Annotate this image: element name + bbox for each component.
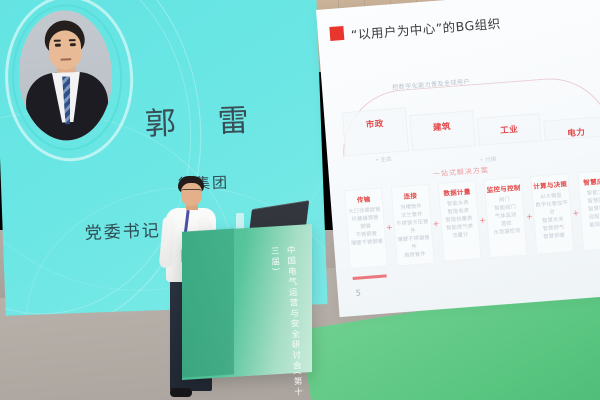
portrait-photo bbox=[17, 9, 115, 142]
solution-label: 一站式解决方案 bbox=[433, 165, 490, 179]
column-items: 智能水表智能电表智能热量表智能燃气表流量计 bbox=[441, 198, 478, 241]
portrait-eyebrow-right bbox=[69, 39, 76, 41]
column-header: 计算与决策 bbox=[533, 178, 568, 191]
water-bottle bbox=[236, 213, 244, 229]
category-label: 建筑 bbox=[432, 120, 451, 133]
portrait-eyebrow-left bbox=[54, 40, 61, 42]
capability-column: 监控与控制 阀门智能阀门气体监测温控水泄漏检测 bbox=[484, 177, 528, 259]
column-header: 传输 bbox=[346, 193, 381, 206]
capability-column: 智慧应用 智能工厂智慧园区智慧楼宇远程运维能效管理 bbox=[577, 170, 600, 252]
speaker-name: 郭 雷 bbox=[144, 94, 265, 143]
category-label: 工业 bbox=[500, 123, 519, 136]
portrait-face bbox=[48, 30, 81, 70]
capability-column: 计算与决策 AI大模型数字化管控平台智慧水务智慧燃气智慧供暖 bbox=[530, 173, 574, 255]
portrait-eye-left bbox=[55, 44, 61, 47]
column-items: AI大模型数字化管控平台智慧水务智慧燃气智慧供暖 bbox=[534, 191, 572, 242]
column-header: 智慧应用 bbox=[580, 175, 600, 188]
speaker-portrait bbox=[2, 0, 130, 158]
capability-columns: 传输 大口径螺旋管环螺缝钢管钢管不锈钢管薄壁不锈钢管 + 连接 沟槽管件法兰管件… bbox=[344, 170, 600, 271]
podium-side-panel bbox=[182, 228, 234, 377]
portrait-mouth bbox=[60, 58, 71, 60]
sub-note: • 分销 bbox=[480, 155, 497, 164]
category-card: 工业 bbox=[476, 113, 542, 146]
sub-note: • 生态 bbox=[375, 155, 392, 164]
category-card: 建筑 bbox=[409, 110, 475, 151]
category-card: 电力 bbox=[543, 116, 600, 141]
column-items: 大口径螺旋管环螺缝钢管钢管不锈钢管薄壁不锈钢管 bbox=[347, 206, 384, 249]
category-card: 市政 bbox=[342, 107, 409, 156]
capability-column: 传输 大口径螺旋管环螺缝钢管钢管不锈钢管薄壁不锈钢管 bbox=[344, 187, 388, 269]
capability-column: 连接 沟槽管件法兰管件不锈钢卡压管件薄壁不锈钢管件熔接管件 bbox=[391, 184, 435, 267]
column-header: 连接 bbox=[393, 189, 428, 202]
bullet-square-icon bbox=[329, 26, 344, 41]
column-items: 阀门智能阀门气体监测温控水泄漏检测 bbox=[487, 195, 524, 238]
column-header: 数据计量 bbox=[440, 185, 475, 198]
eyeglasses-icon bbox=[181, 189, 202, 196]
column-items: 沟槽管件法兰管件不锈钢卡压管件薄壁不锈钢管件熔接管件 bbox=[394, 202, 432, 261]
page-accent-line bbox=[353, 274, 387, 280]
portrait-eye-right bbox=[70, 43, 76, 46]
category-label: 市政 bbox=[365, 117, 384, 130]
slide-title: “以用户为中心”的BG组织 bbox=[350, 13, 501, 43]
speaker-shoe bbox=[170, 388, 192, 397]
presentation-slide: “以用户为中心”的BG组织 M 把数字化能力普及全球用户 市政 建筑 工业 电力… bbox=[316, 0, 600, 317]
slide-page-number: 5 bbox=[356, 288, 362, 297]
conference-photo: 郭 雷 德集团 党委书记, “以用户为中心”的BG组织 M 把数字化能力普及全球… bbox=[0, 0, 600, 400]
category-label: 电力 bbox=[567, 126, 586, 139]
speaker-role: 党委书记, bbox=[84, 216, 168, 244]
column-items: 智能工厂智慧园区智慧楼宇远程运维能效管理 bbox=[581, 188, 600, 231]
column-header: 监控与控制 bbox=[486, 182, 521, 195]
capability-column: 数据计量 智能水表智能电表智能热量表智能燃气表流量计 bbox=[437, 180, 481, 262]
